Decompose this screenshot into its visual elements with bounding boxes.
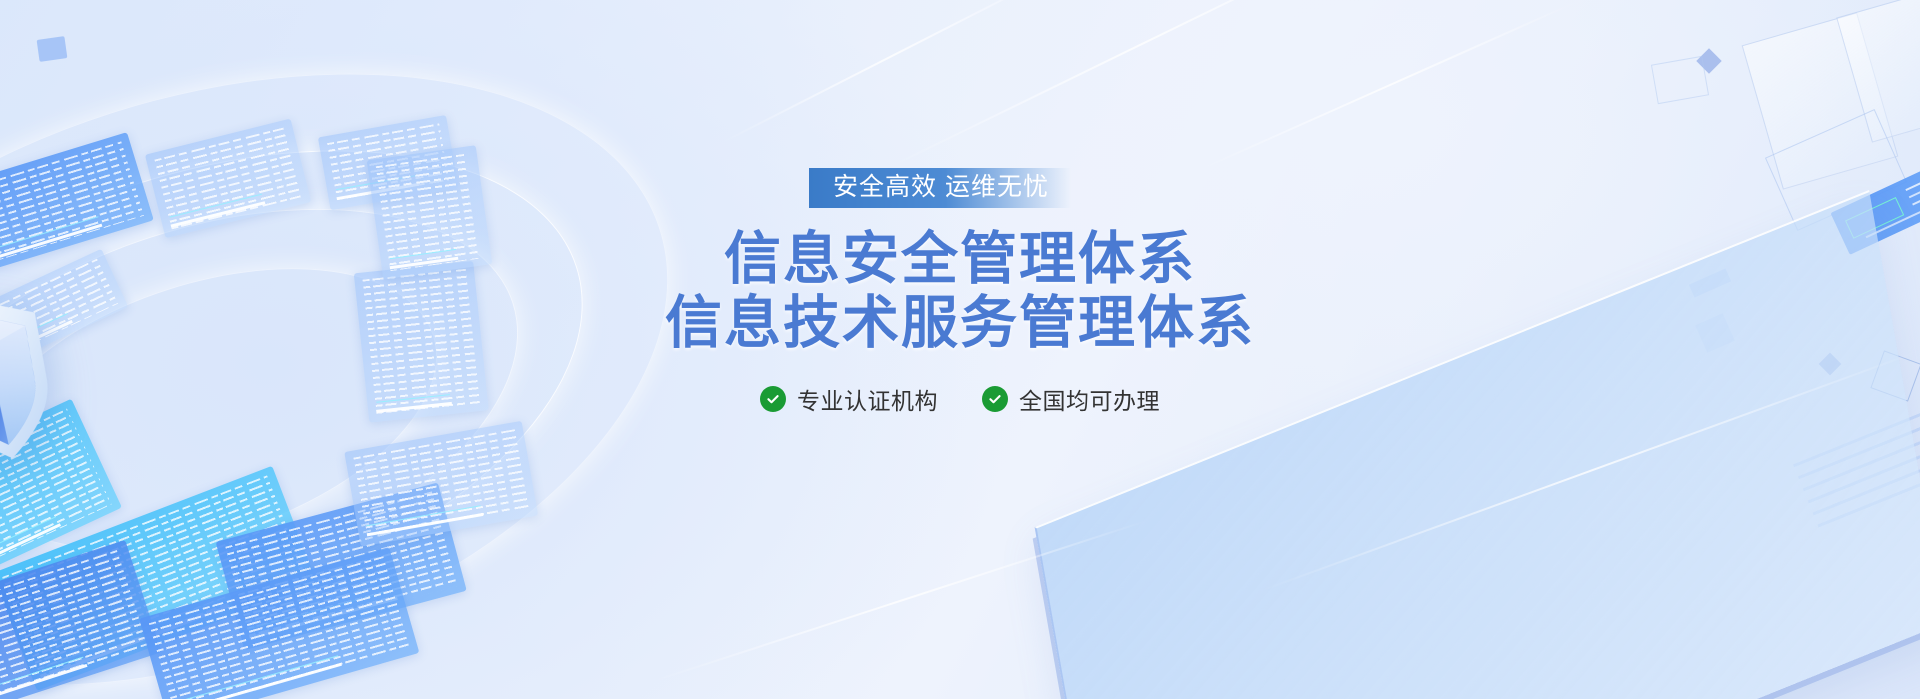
banner-eyebrow-badge: 安全高效 运维无忧 (809, 168, 1071, 208)
feature-label: 全国均可办理 (1019, 382, 1160, 416)
banner-headline: 信息安全管理体系 信息技术服务管理体系 (665, 228, 1255, 356)
banner-feature-list: 专业认证机构 全国均可办理 (760, 382, 1160, 416)
hero-banner: 安全高效 运维无忧 信息安全管理体系 信息技术服务管理体系 专业认证机构 (0, 0, 1920, 699)
feature-label: 专业认证机构 (797, 382, 938, 416)
feature-item: 全国均可办理 (982, 382, 1160, 416)
banner-content: 安全高效 运维无忧 信息安全管理体系 信息技术服务管理体系 专业认证机构 (0, 0, 1920, 699)
feature-item: 专业认证机构 (760, 382, 938, 416)
headline-line-2: 信息技术服务管理体系 (665, 292, 1255, 356)
check-circle-icon (982, 386, 1008, 412)
headline-line-1: 信息安全管理体系 (665, 228, 1255, 292)
check-circle-icon (760, 386, 786, 412)
